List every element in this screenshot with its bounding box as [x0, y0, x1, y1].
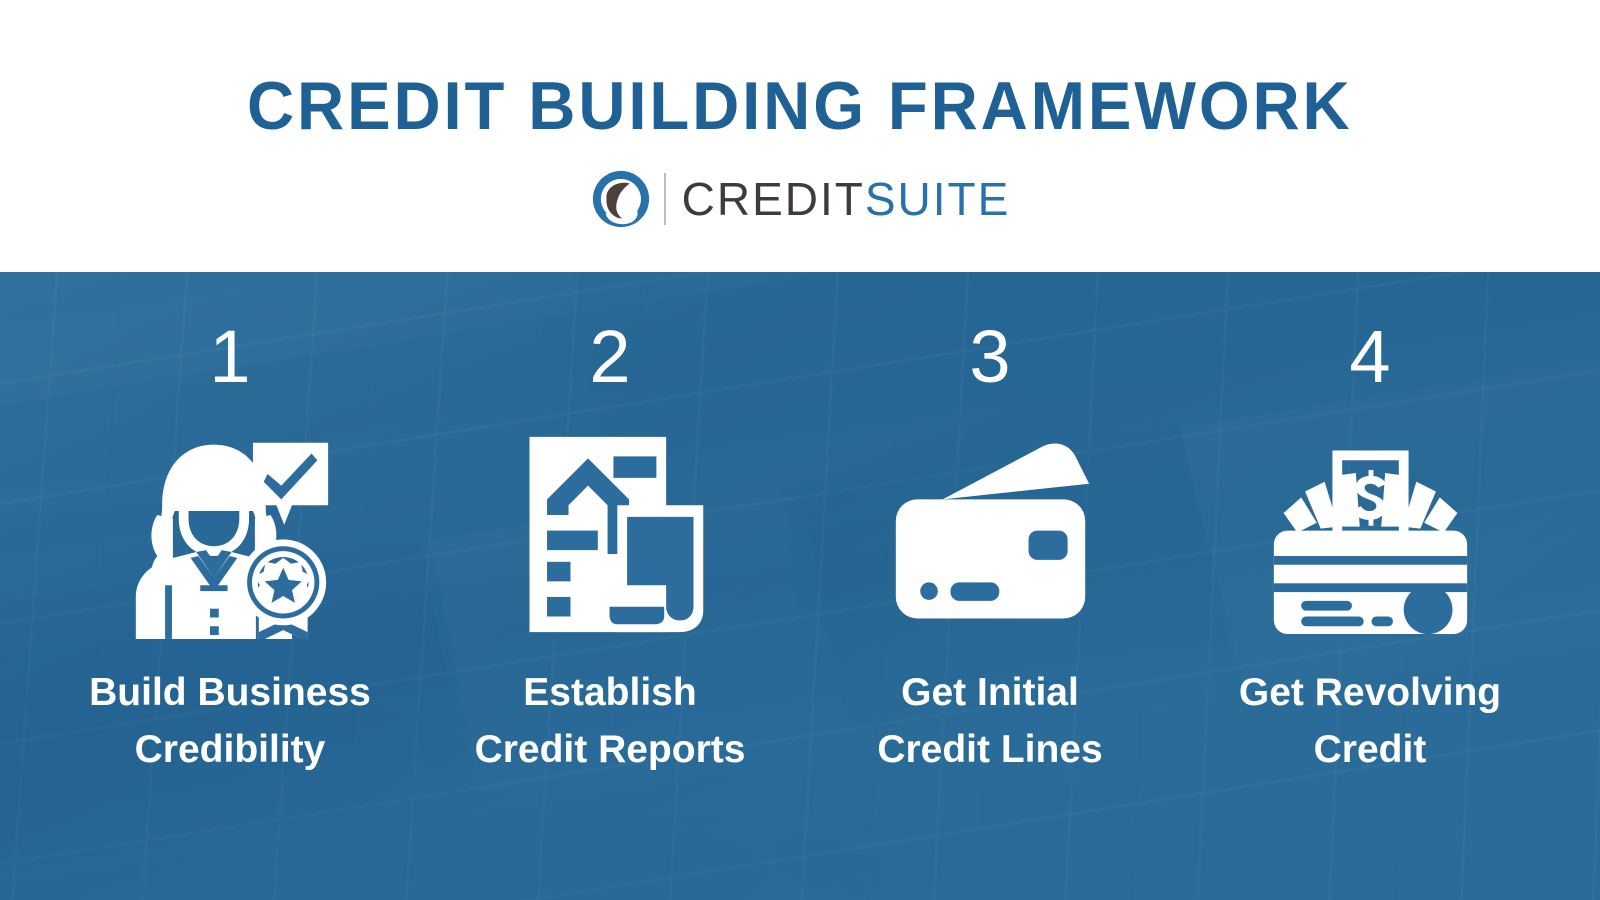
step-number: 4 — [1349, 320, 1390, 398]
step-label: Build Business Credibility — [89, 665, 371, 778]
step-number: 2 — [589, 320, 630, 398]
logo-wordmark: CREDITSUITE — [682, 176, 1011, 222]
infographic-page: CREDIT BUILDING FRAMEWORK CREDITSUITE — [0, 0, 1600, 900]
step-1: 1 — [40, 272, 420, 900]
step-label: Establish Credit Reports — [475, 665, 746, 778]
credit-card-cash-fan-icon — [1265, 426, 1475, 641]
logo-divider — [664, 173, 666, 225]
steps-grid: 1 — [0, 272, 1600, 900]
step-number: 1 — [209, 320, 250, 398]
businesswoman-checkmark-badge-icon — [125, 426, 335, 641]
header-section: CREDIT BUILDING FRAMEWORK CREDITSUITE — [0, 0, 1600, 272]
page-title: CREDIT BUILDING FRAMEWORK — [247, 72, 1353, 140]
brand-logo: CREDITSUITE — [590, 166, 1011, 232]
logo-word-credit: CREDIT — [682, 173, 865, 225]
logo-word-suite: SUITE — [865, 173, 1010, 225]
step-3: 3 — [800, 272, 1180, 900]
step-2: 2 — [420, 272, 800, 900]
credit-suite-circle-s-logo-icon — [590, 168, 652, 230]
credit-cards-icon — [885, 426, 1095, 641]
step-4: 4 — [1180, 272, 1560, 900]
step-number: 3 — [969, 320, 1010, 398]
step-label: Get Initial Credit Lines — [877, 665, 1102, 778]
report-documents-uparrow-icon — [505, 426, 715, 641]
steps-panel: 1 — [0, 272, 1600, 900]
step-label: Get Revolving Credit — [1239, 665, 1501, 778]
